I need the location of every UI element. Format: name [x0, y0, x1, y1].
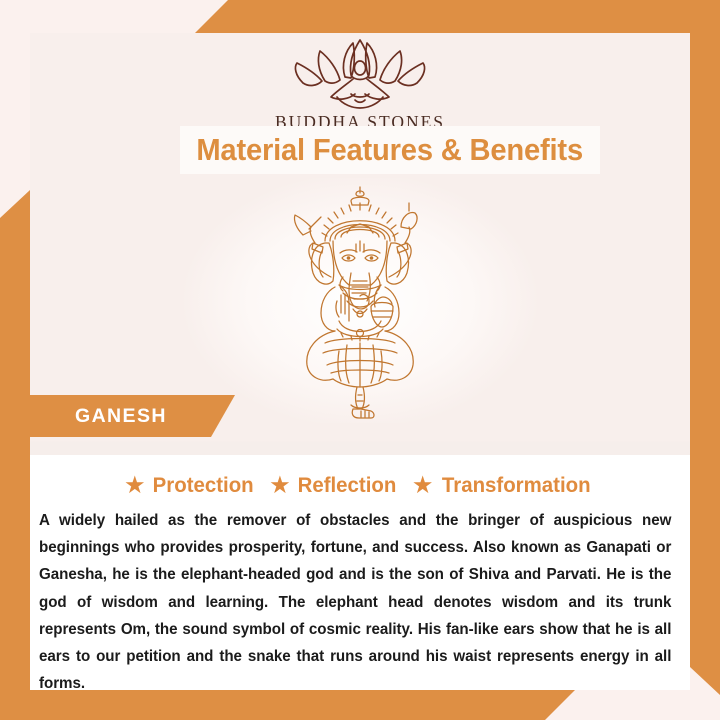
hero-illustration — [30, 178, 690, 423]
lotus-meditation-icon — [285, 37, 435, 109]
feature-list: ★ Protection ★ Reflection ★ Transformati… — [36, 473, 684, 498]
poster-root: BUDDHA STONES Material Features & Benefi… — [0, 0, 720, 720]
decorative-band-top — [195, 0, 720, 33]
title-banner: Material Features & Benefits — [180, 126, 600, 174]
feature-item-protection: ★ Protection — [125, 473, 256, 498]
decorative-band-left — [0, 190, 30, 720]
decorative-band-right — [690, 0, 720, 695]
ganesh-line-art-illustration — [265, 181, 455, 421]
content-card: ★ Protection ★ Reflection ★ Transformati… — [30, 455, 690, 690]
feature-item-reflection: ★ Reflection — [271, 473, 400, 498]
page-surface: BUDDHA STONES Material Features & Benefi… — [30, 33, 690, 690]
brand-block: BUDDHA STONES — [30, 37, 690, 133]
page-title: Material Features & Benefits — [197, 132, 584, 168]
star-icon: ★ — [271, 475, 290, 496]
feature-label: Protection — [153, 473, 254, 498]
feature-item-transformation: ★ Transformation — [413, 473, 594, 498]
feature-label: Reflection — [298, 473, 397, 498]
section-ribbon: GANESH — [30, 395, 235, 437]
body-description: A widely hailed as the remover of obstac… — [39, 507, 671, 697]
star-icon: ★ — [413, 475, 432, 496]
feature-label: Transformation — [442, 473, 591, 498]
ribbon-label: GANESH — [75, 405, 167, 428]
star-icon: ★ — [125, 475, 144, 496]
